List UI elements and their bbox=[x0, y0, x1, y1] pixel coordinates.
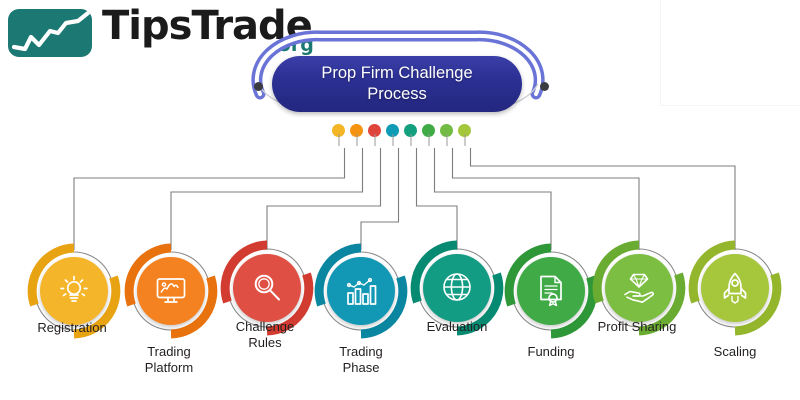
pin-profit-sharing[interactable] bbox=[440, 124, 453, 137]
step-disc-trading-platform bbox=[137, 257, 205, 325]
pin-trading-phase[interactable] bbox=[386, 124, 399, 137]
step-label-funding: Funding bbox=[481, 344, 621, 360]
pin-funding[interactable] bbox=[422, 124, 435, 137]
step-disc-challenge-rules bbox=[233, 254, 301, 322]
step-disc-funding bbox=[517, 257, 585, 325]
hand-diamond-icon bbox=[622, 271, 656, 305]
pin-registration[interactable] bbox=[332, 124, 345, 137]
step-label-trading-phase: Trading Phase bbox=[291, 344, 431, 377]
pin-challenge-rules[interactable] bbox=[368, 124, 381, 137]
step-disc-profit-sharing bbox=[605, 254, 673, 322]
pin-trading-platform[interactable] bbox=[350, 124, 363, 137]
lightbulb-icon bbox=[57, 274, 91, 308]
certificate-icon bbox=[534, 274, 568, 308]
connector-lines bbox=[0, 0, 800, 400]
infographic-canvas: TipsTrade .org Prop Firm Challenge Proce… bbox=[0, 0, 800, 400]
bar-chart-icon bbox=[344, 274, 378, 308]
pin-evaluation[interactable] bbox=[404, 124, 417, 137]
monitor-icon bbox=[154, 274, 188, 308]
step-disc-scaling bbox=[701, 254, 769, 322]
step-label-profit-sharing: Profit Sharing bbox=[567, 319, 707, 335]
step-label-scaling: Scaling bbox=[665, 344, 800, 360]
rocket-icon bbox=[718, 271, 752, 305]
magnifier-icon bbox=[250, 271, 284, 305]
step-label-evaluation: Evaluation bbox=[387, 319, 527, 335]
step-label-registration: Registration bbox=[2, 320, 142, 336]
step-disc-evaluation bbox=[423, 254, 491, 322]
globe-icon bbox=[440, 271, 474, 305]
step-disc-trading-phase bbox=[327, 257, 395, 325]
step-disc-registration bbox=[40, 257, 108, 325]
pin-scaling[interactable] bbox=[458, 124, 471, 137]
